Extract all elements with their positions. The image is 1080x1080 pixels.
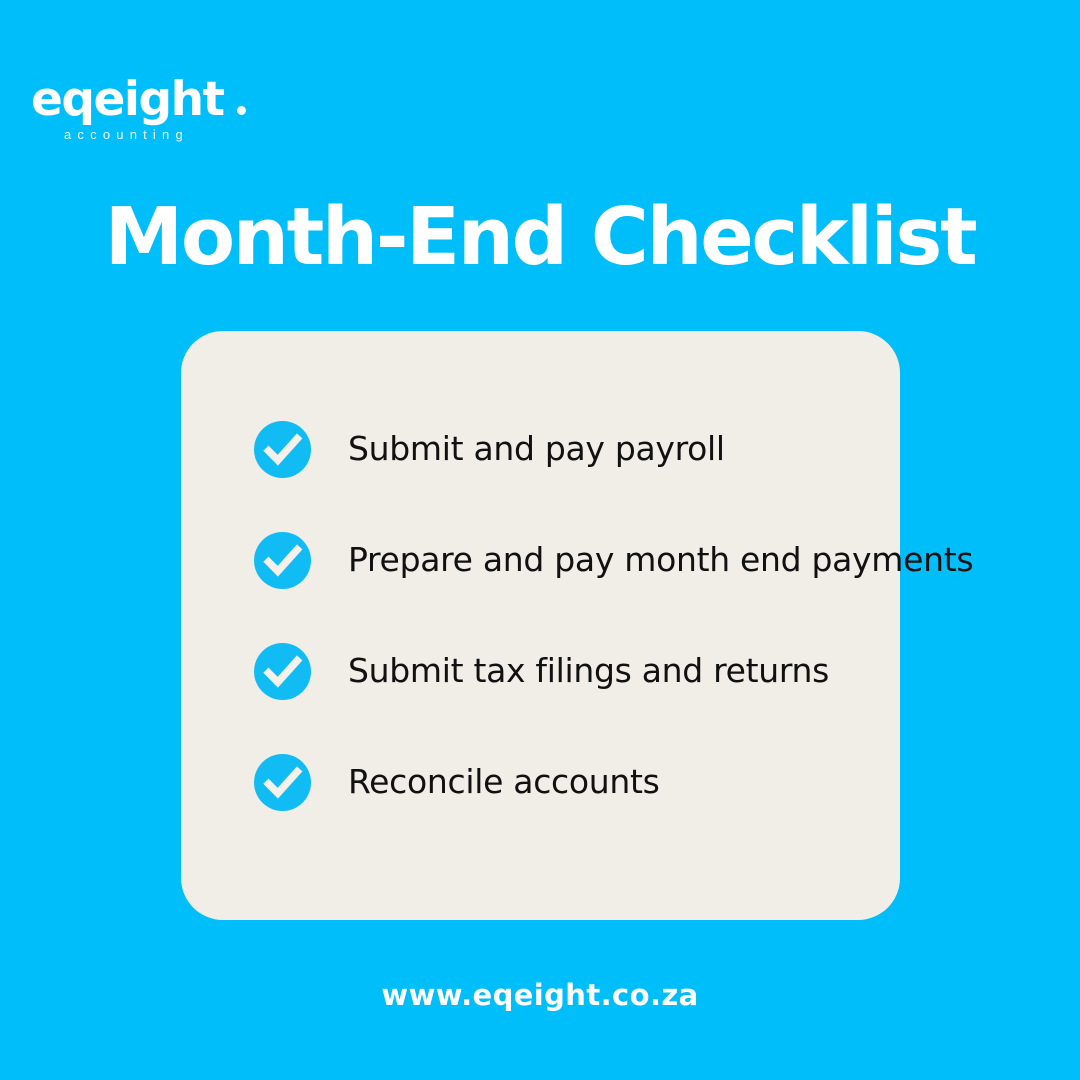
list-item[interactable]: Submit and pay payroll (254, 421, 870, 478)
list-item-label: Reconcile accounts (348, 764, 660, 800)
checklist-items: Submit and pay payroll Prepare and pay m… (254, 421, 870, 811)
list-item-label: Submit tax filings and returns (348, 653, 829, 689)
logo-wordmark: eqeight (31, 78, 331, 121)
checklist-card: Submit and pay payroll Prepare and pay m… (181, 331, 900, 920)
check-circle-icon (254, 532, 311, 589)
list-item[interactable]: Prepare and pay month end payments (254, 532, 870, 589)
logo-subtitle: accounting (64, 127, 331, 142)
page-title: Month-End Checklist (0, 196, 1080, 279)
list-item-label: Submit and pay payroll (348, 431, 725, 467)
list-item-label: Prepare and pay month end payments (348, 542, 973, 578)
logo-dot-icon (237, 106, 246, 115)
check-circle-icon (254, 421, 311, 478)
list-item[interactable]: Reconcile accounts (254, 754, 870, 811)
checklist-poster: eqeight accounting Month-End Checklist S… (0, 0, 1080, 1080)
list-item[interactable]: Submit tax filings and returns (254, 643, 870, 700)
check-circle-icon (254, 754, 311, 811)
check-circle-icon (254, 643, 311, 700)
logo-word-text: eqeight (31, 78, 224, 121)
website-url[interactable]: www.eqeight.co.za (0, 978, 1080, 1012)
brand-logo: eqeight accounting (31, 78, 331, 142)
